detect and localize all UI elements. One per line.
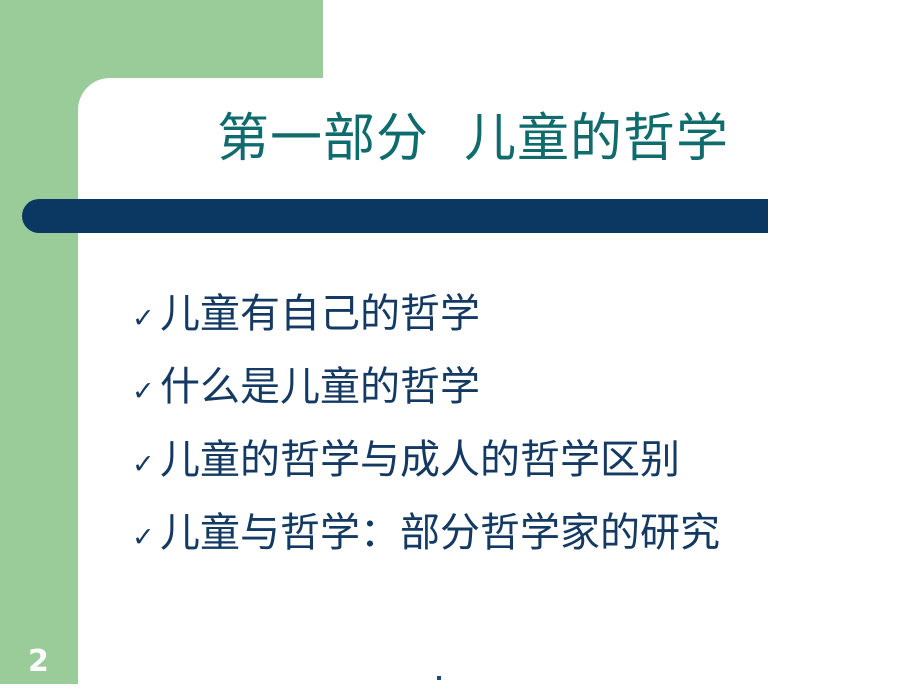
- list-item[interactable]: ✓ 什么是儿童的哲学: [132, 353, 862, 426]
- list-item[interactable]: ✓ 儿童与哲学：部分哲学家的研究: [132, 499, 862, 572]
- presentation-slide: 第一部分 儿童的哲学 ✓ 儿童有自己的哲学 ✓ 什么是儿童的哲学 ✓ 儿童的哲学…: [0, 0, 920, 690]
- checkmark-icon: ✓: [132, 504, 160, 572]
- bullet-list: ✓ 儿童有自己的哲学 ✓ 什么是儿童的哲学 ✓ 儿童的哲学与成人的哲学区别 ✓ …: [132, 280, 862, 572]
- checkmark-icon: ✓: [132, 431, 160, 499]
- list-item[interactable]: ✓ 儿童的哲学与成人的哲学区别: [132, 426, 862, 499]
- footer-dot-mark: [437, 676, 441, 680]
- list-item-label: 儿童与哲学：部分哲学家的研究: [160, 499, 720, 567]
- page-number: 2: [28, 645, 49, 679]
- checkmark-icon: ✓: [132, 358, 160, 426]
- list-item-label: 什么是儿童的哲学: [160, 353, 480, 421]
- list-item[interactable]: ✓ 儿童有自己的哲学: [132, 280, 862, 353]
- green-accent-left-band: [0, 0, 78, 684]
- navy-divider-bar: [22, 199, 768, 233]
- page-title: 第一部分 儿童的哲学: [78, 108, 868, 170]
- list-item-label: 儿童的哲学与成人的哲学区别: [160, 426, 680, 494]
- list-item-label: 儿童有自己的哲学: [160, 280, 480, 348]
- checkmark-icon: ✓: [132, 285, 160, 353]
